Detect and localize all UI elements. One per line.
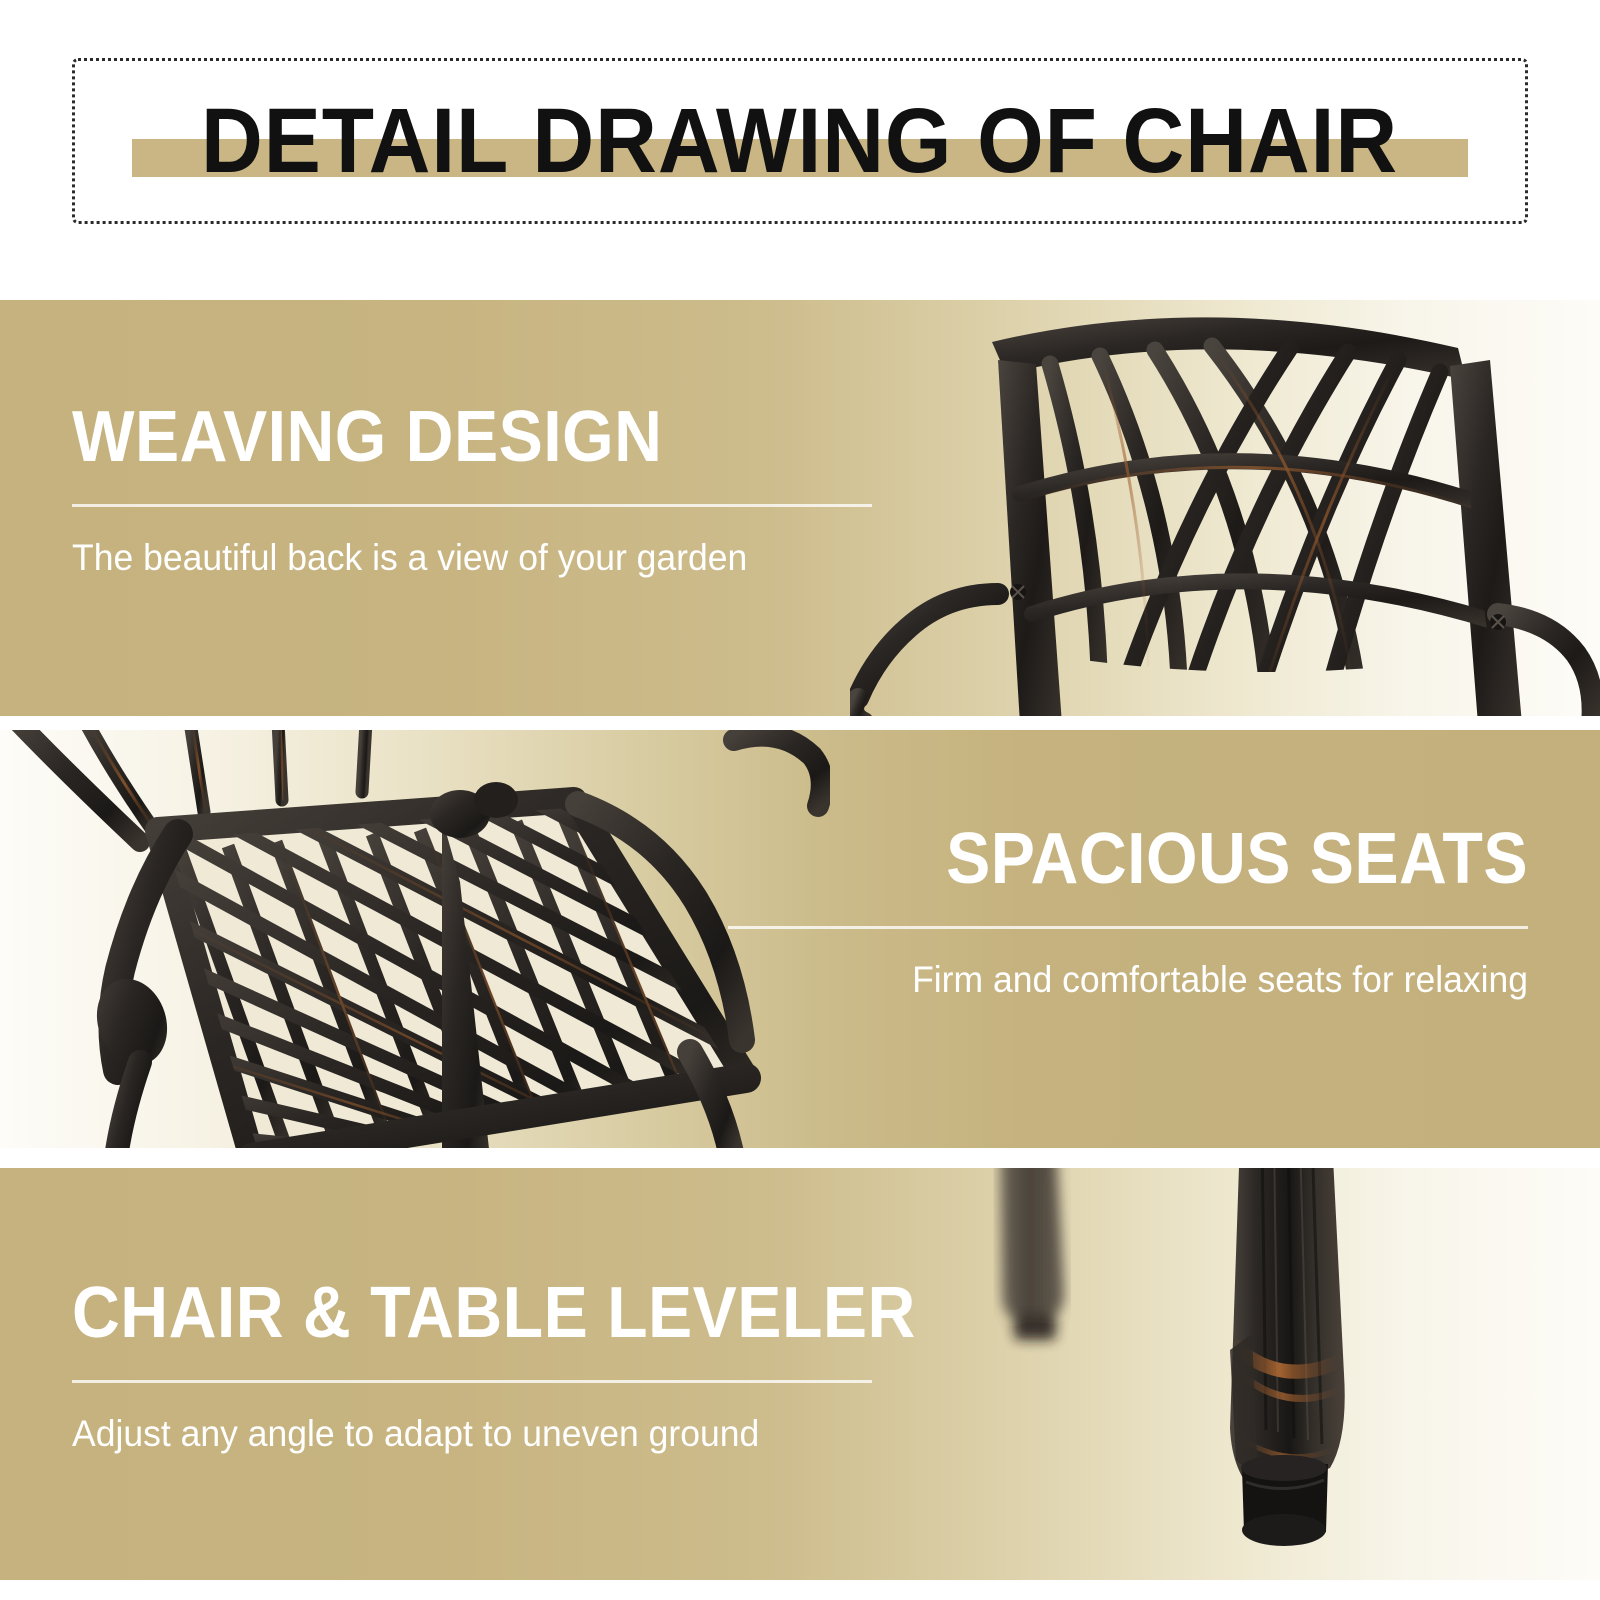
feature-subtitle-seats: Firm and comfortable seats for relaxing (760, 957, 1528, 1003)
chair-leg-leveler-photo (940, 1168, 1560, 1580)
feature-title-weaving: WEAVING DESIGN (72, 396, 808, 478)
chair-back-lattice-photo (850, 300, 1600, 716)
panel-text-seats: SPACIOUS SEATS Firm and comfortable seat… (728, 818, 1528, 1003)
feature-panel-seats: SPACIOUS SEATS Firm and comfortable seat… (0, 730, 1600, 1148)
feature-panel-weaving: WEAVING DESIGN The beautiful back is a v… (0, 300, 1600, 716)
panel-text-leveler: CHAIR & TABLE LEVELER Adjust any angle t… (72, 1272, 872, 1457)
feature-divider (72, 1380, 872, 1383)
page-title-inner: DETAIL DRAWING OF CHAIR (75, 61, 1525, 221)
feature-divider (728, 926, 1528, 929)
feature-subtitle-leveler: Adjust any angle to adapt to uneven grou… (72, 1411, 840, 1457)
page-title-stack: DETAIL DRAWING OF CHAIR (146, 89, 1453, 193)
feature-panel-leveler: CHAIR & TABLE LEVELER Adjust any angle t… (0, 1168, 1600, 1580)
panel-text-weaving: WEAVING DESIGN The beautiful back is a v… (72, 396, 872, 581)
page-title-box: DETAIL DRAWING OF CHAIR (72, 58, 1528, 224)
page-title: DETAIL DRAWING OF CHAIR (201, 89, 1398, 193)
infographic-page: DETAIL DRAWING OF CHAIR (0, 0, 1600, 1600)
feature-title-seats: SPACIOUS SEATS (792, 818, 1528, 900)
feature-divider (72, 504, 872, 507)
chair-seat-weave-photo (0, 730, 830, 1148)
feature-title-leveler: CHAIR & TABLE LEVELER (72, 1272, 808, 1354)
feature-subtitle-weaving: The beautiful back is a view of your gar… (72, 535, 840, 581)
